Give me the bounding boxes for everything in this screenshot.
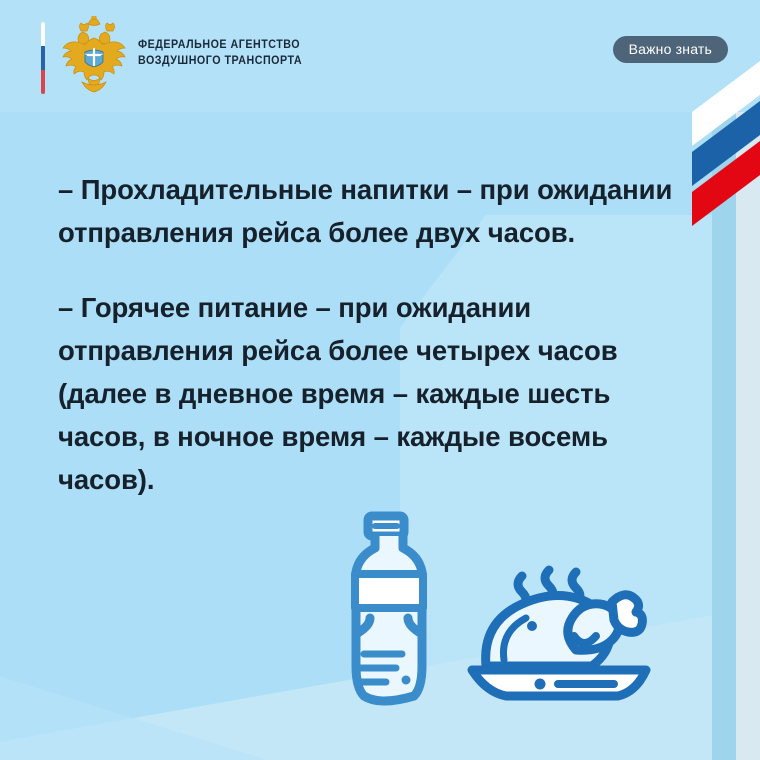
flag-stripe-white — [41, 22, 45, 46]
water-bottle-icon — [330, 508, 448, 720]
organization-name: ФЕДЕРАЛЬНОЕ АГЕНТСТВО ВОЗДУШНОГО ТРАНСПО… — [138, 38, 302, 69]
header: ФЕДЕРАЛЬНОЕ АГЕНТСТВО ВОЗДУШНОГО ТРАНСПО… — [0, 0, 760, 112]
status-badge[interactable]: Важно знать — [613, 36, 728, 63]
russian-flag-vertical-bar — [41, 22, 45, 94]
flag-stripe-blue — [41, 46, 45, 70]
roast-chicken-on-platter-icon — [466, 532, 652, 710]
russian-federation-double-headed-eagle-emblem — [55, 16, 133, 98]
paragraph-hot-meals: – Горячее питание – при ожидании отправл… — [58, 286, 688, 501]
infographic-card: ФЕДЕРАЛЬНОЕ АГЕНТСТВО ВОЗДУШНОГО ТРАНСПО… — [0, 0, 760, 760]
main-content: – Прохладительные напитки – при ожидании… — [58, 168, 688, 501]
paragraph-drinks: – Прохладительные напитки – при ожидании… — [58, 168, 688, 254]
flag-stripe-red — [41, 70, 45, 94]
